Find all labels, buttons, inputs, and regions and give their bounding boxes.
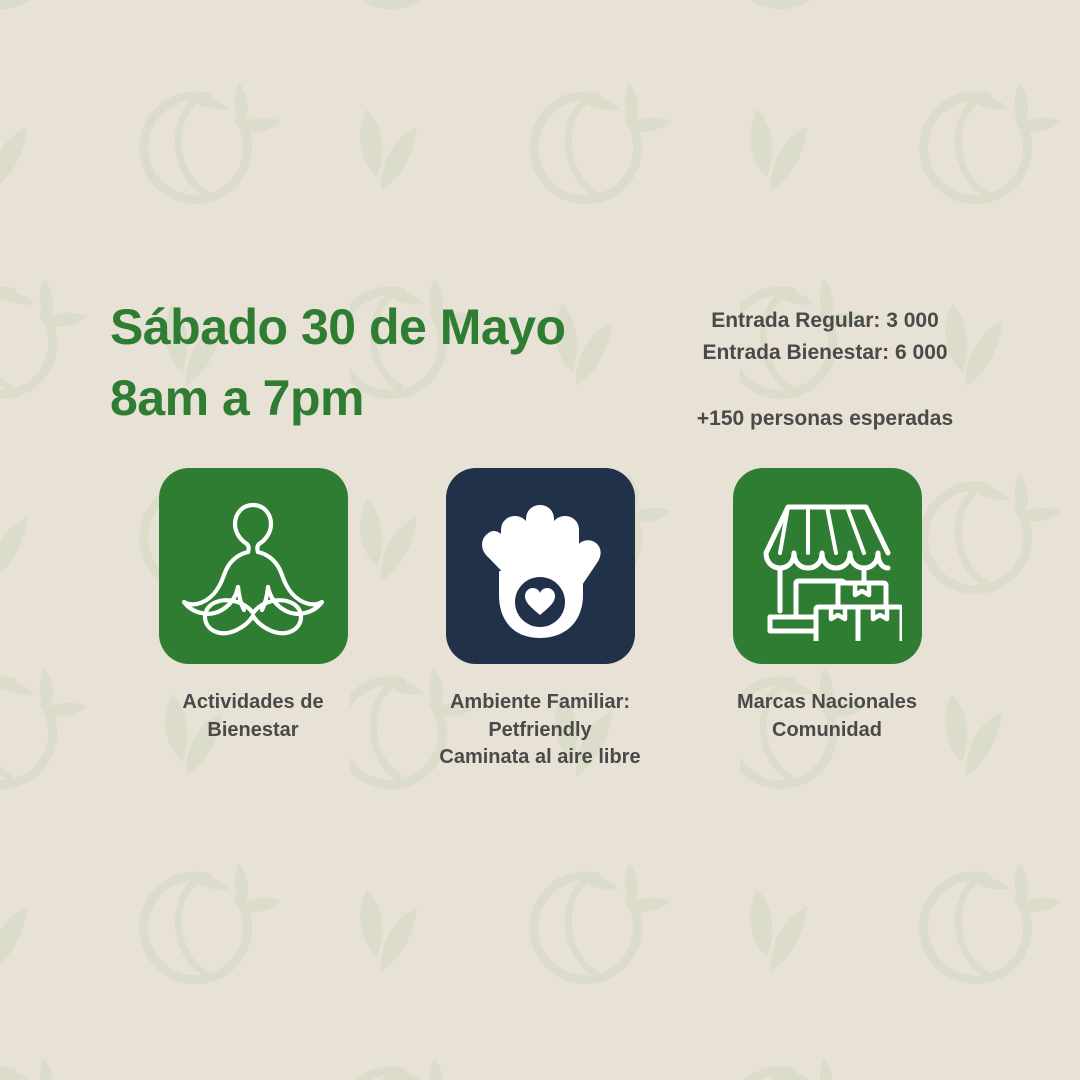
caption-line: Comunidad: [712, 717, 942, 745]
feature-wellness-caption: Actividades de Bienestar: [138, 689, 368, 744]
poster-canvas: Sábado 30 de Mayo 8am a 7pm Entrada Regu…: [0, 0, 1080, 1080]
feature-brands: Marcas Nacionales Comunidad: [732, 468, 922, 744]
storefront-boxes-icon: [752, 491, 902, 641]
headline-date: Sábado 30 de Mayo: [110, 292, 670, 363]
feature-wellness: Actividades de Bienestar: [158, 468, 348, 744]
price-bienestar: Entrada Bienestar: 6 000: [702, 341, 947, 364]
feature-family-caption: Ambiente Familiar: Petfriendly Caminata …: [425, 689, 655, 772]
caption-line: Actividades de: [138, 689, 368, 717]
feature-brands-caption: Marcas Nacionales Comunidad: [712, 689, 942, 744]
caption-line: Marcas Nacionales: [712, 689, 942, 717]
caption-line: Ambiente Familiar:: [425, 689, 655, 717]
price-regular: Entrada Regular: 3 000: [711, 309, 939, 332]
feature-row: Actividades de Bienestar: [0, 468, 1080, 772]
caption-line: Bienestar: [138, 717, 368, 745]
pricing-spacer: [640, 369, 1010, 403]
expected-attendance: +150 personas esperadas: [697, 407, 953, 430]
meditation-lotus-icon: [178, 491, 328, 641]
caption-line: Petfriendly: [425, 717, 655, 745]
headline-time: 8am a 7pm: [110, 363, 670, 434]
caption-line: Caminata al aire libre: [425, 744, 655, 772]
hand-heart-icon: [470, 491, 610, 641]
pricing-block: Entrada Regular: 3 000 Entrada Bienestar…: [640, 305, 1010, 435]
feature-family-tile: [446, 468, 635, 664]
event-headline: Sábado 30 de Mayo 8am a 7pm: [110, 292, 670, 434]
feature-brands-tile: [733, 468, 922, 664]
feature-wellness-tile: [159, 468, 348, 664]
feature-family: Ambiente Familiar: Petfriendly Caminata …: [445, 468, 635, 772]
